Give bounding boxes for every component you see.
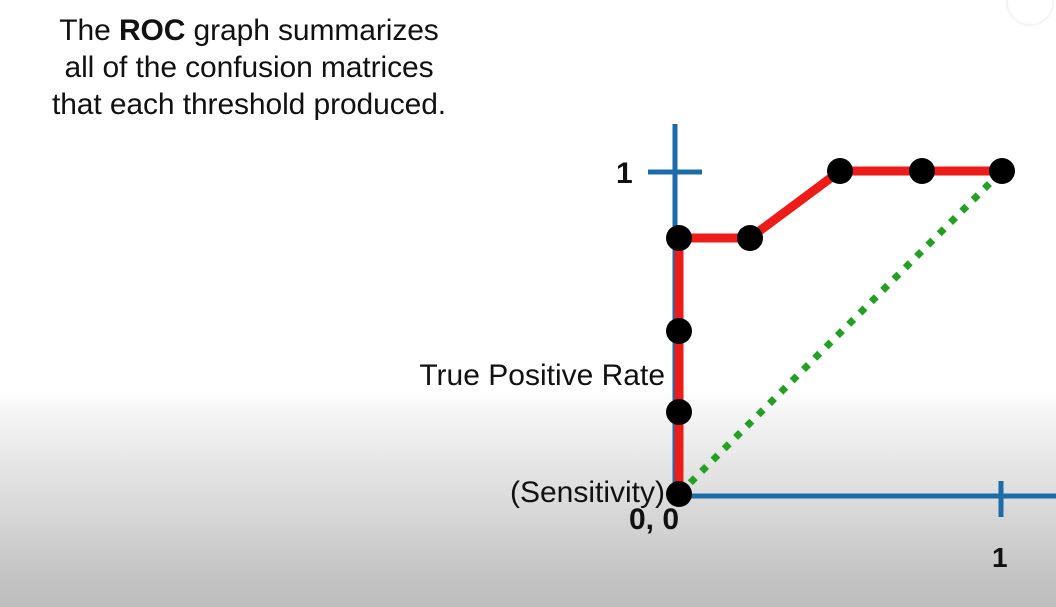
- y-axis-tick-label-1: 1: [616, 157, 633, 191]
- x-axis-tick-label-1: 1: [992, 542, 1008, 574]
- roc-point[interactable]: [666, 399, 692, 425]
- slide-canvas: The ROC graph summarizes all of the conf…: [0, 0, 1056, 607]
- y-axis-title-main: True Positive Rate: [380, 356, 665, 395]
- chance-diagonal-line: [679, 171, 1002, 494]
- roc-point[interactable]: [827, 158, 853, 184]
- roc-point[interactable]: [666, 225, 692, 251]
- roc-point[interactable]: [989, 158, 1015, 184]
- y-axis-title-sub: (Sensitivity): [380, 473, 665, 512]
- roc-point[interactable]: [666, 318, 692, 344]
- y-axis-title: True Positive Rate (Sensitivity): [380, 278, 665, 590]
- x-axis-title: False Positive Rate (1 - Specificity): [690, 524, 990, 607]
- roc-point[interactable]: [909, 158, 935, 184]
- roc-point[interactable]: [737, 225, 763, 251]
